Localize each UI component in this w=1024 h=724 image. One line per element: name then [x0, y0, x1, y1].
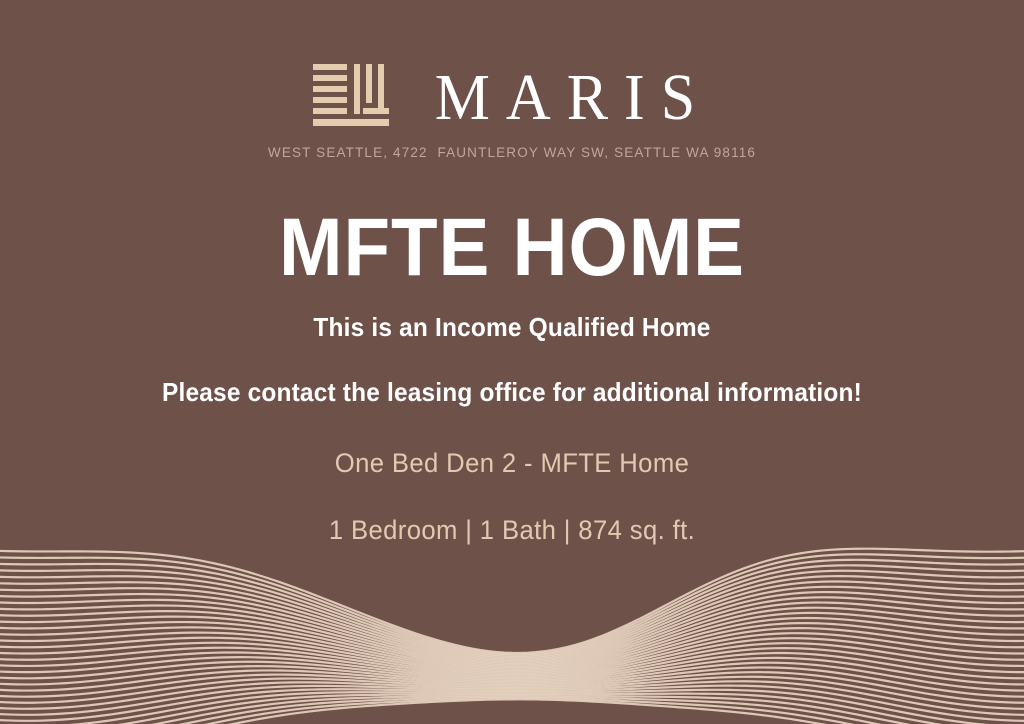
unit-name: One Bed Den 2 - MFTE Home [26, 448, 999, 479]
page-title: MFTE HOME [36, 206, 988, 290]
brand-wordmark: MARIS [419, 65, 711, 131]
leasing-office-note: Please contact the leasing office for ad… [31, 377, 994, 408]
brand-row: MARIS [313, 64, 711, 131]
flyer-content: MFTE HOME This is an Income Qualified Ho… [0, 206, 1024, 546]
maris-logo-mark-icon [313, 64, 389, 131]
property-address: WEST SEATTLE, 4722 FAUNTLEROY WAY SW, SE… [268, 145, 756, 160]
brand-lockup: MARIS WEST SEATTLE, 4722 FAUNTLEROY WAY … [0, 64, 1024, 160]
mfte-home-flyer: MARIS WEST SEATTLE, 4722 FAUNTLEROY WAY … [0, 0, 1024, 724]
unit-specs: 1 Bedroom | 1 Bath | 874 sq. ft. [26, 515, 999, 546]
income-qualified-note: This is an Income Qualified Home [31, 312, 994, 343]
wave-pattern-decoration [0, 544, 1024, 724]
